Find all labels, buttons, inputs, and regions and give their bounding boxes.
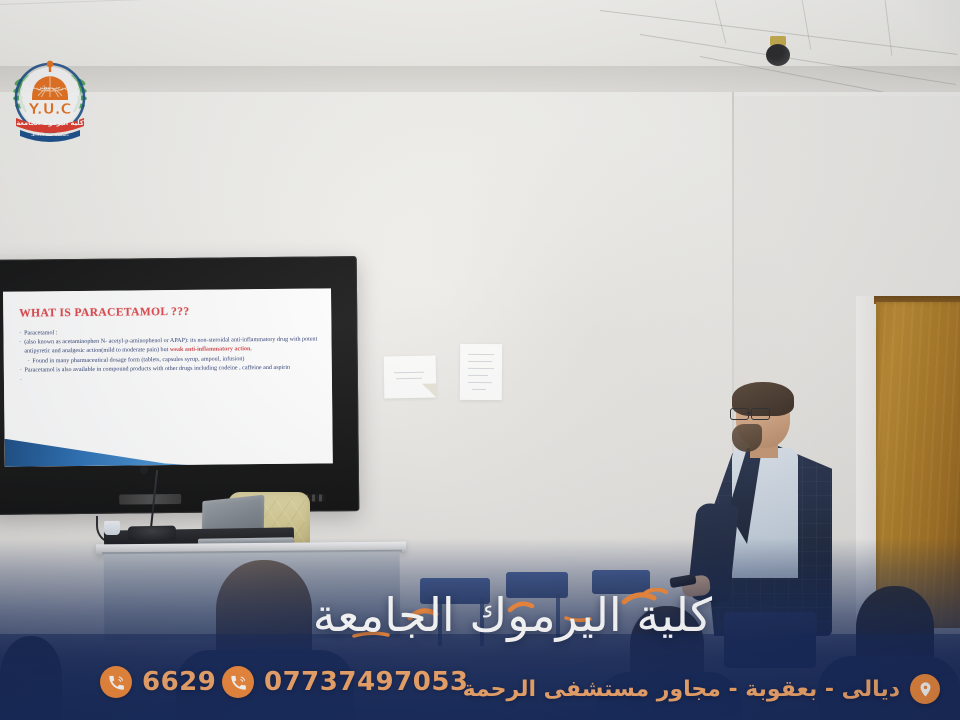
phone-icon [222,666,254,698]
contact-phone-2[interactable]: 07737497053 [222,666,469,698]
bullet-glyph: - [19,329,21,338]
phone-number-1: 6629 [142,667,216,697]
slide-highlight: weak anti-inflammatory action. [170,346,252,353]
svg-text:Y.U.C: Y.U.C [28,100,72,118]
svg-text:كلية اليرموك الجامعة: كلية اليرموك الجامعة [16,119,84,127]
slide-title: WHAT IS PARACETAMOL ??? [19,304,317,320]
address-block[interactable]: ديالى - بعقوبة - مجاور مستشفى الرحمة [463,674,940,704]
bullet-glyph: - [20,339,22,356]
slide-bullet-text [25,373,318,384]
slide-screen: WHAT IS PARACETAMOL ??? - Paracetamol : … [3,288,333,466]
notice-paper-left [384,356,437,399]
microphone-head [140,466,148,474]
screenshot-root: WHAT IS PARACETAMOL ??? - Paracetamol : … [0,0,960,720]
slide-body: - Paracetamol : - (also known as acetami… [19,326,318,384]
bullet-glyph: - [20,376,22,384]
wooden-door[interactable] [876,302,960,628]
presenter-beard [732,424,762,452]
svg-text:رائل رجب وطني علينا: رائل رجب وطني علينا [26,85,75,91]
glasses-icon [730,408,774,419]
college-name-arabic: كلية اليرموك الجامعة [313,592,712,638]
location-pin-icon [910,674,940,704]
presentation-display[interactable]: WHAT IS PARACETAMOL ??? - Paracetamol : … [0,256,359,515]
university-logo: رائل رجب وطني علينا Y.U.C كلية اليرموك ا… [8,40,92,150]
ceiling [0,0,960,96]
bullet-glyph: - [20,367,22,376]
bullet-glyph: - [28,357,30,366]
address-text: ديالى - بعقوبة - مجاور مستشفى الرحمة [463,677,900,702]
svg-text:تأسست سنة ١٤٢٧هـ: تأسست سنة ١٤٢٧هـ [30,131,69,138]
notice-paper-right [460,344,502,400]
display-brand-plate [119,494,181,505]
slide-bullet-text: (also known as acetaminophen N- acetyl-p… [24,336,317,356]
presentation-slide: WHAT IS PARACETAMOL ??? - Paracetamol : … [3,288,333,466]
cable [96,516,144,544]
slide-bullet-1: - (also known as acetaminophen N- acetyl… [20,336,318,356]
contact-phone-1[interactable]: 6629 [100,666,216,698]
phone-icon [100,666,132,698]
slide-bullet-4: - [20,373,318,384]
phone-number-2: 07737497053 [264,667,469,697]
slide-ribbon [5,437,175,467]
